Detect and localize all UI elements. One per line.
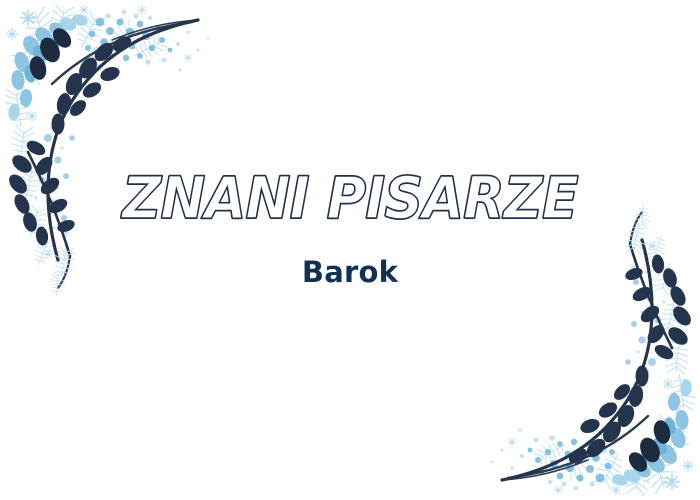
slide-canvas: ZNANI PISARZE Barok <box>0 0 700 500</box>
page-subtitle: Barok <box>0 229 700 289</box>
page-title: ZNANI PISARZE <box>25 168 676 229</box>
slide-text-block: ZNANI PISARZE Barok <box>0 168 700 289</box>
